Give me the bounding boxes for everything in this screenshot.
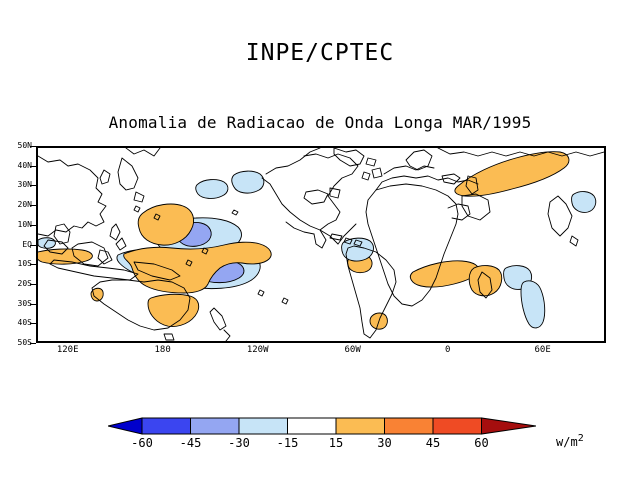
chart-page: INPE/CPTEC Anomalia de Radiacao de Onda …: [0, 0, 640, 494]
x-tick-label: 120W: [228, 345, 288, 355]
page-title: INPE/CPTEC: [0, 40, 640, 66]
y-tick-label: 40S: [0, 318, 32, 327]
chart-title: Anomalia de Radiacao de Onda Longa MAR/1…: [0, 113, 640, 132]
anomaly-madagascar-positive: [469, 266, 502, 296]
colorbar-band-0: [142, 418, 191, 434]
colorbar-tick-label: -30: [214, 436, 264, 450]
x-tick-label: 0: [418, 345, 478, 355]
y-tick-label: 20S: [0, 279, 32, 288]
colorbar-tick-label: 45: [408, 436, 458, 450]
y-tick-label: 20N: [0, 200, 32, 209]
y-tick-label: 30S: [0, 299, 32, 308]
anomaly-australia-positive: [148, 294, 199, 326]
world-map-anomaly-svg: [38, 148, 604, 341]
x-tick-label: 180: [133, 345, 193, 355]
colorbar-band-1: [191, 418, 240, 434]
colorbar-tick-label: -45: [166, 436, 216, 450]
units-label: w/m2: [556, 433, 584, 449]
anomaly-southern-africa-positive: [410, 261, 478, 287]
colorbar-extend-low: [108, 418, 142, 434]
x-tick-label: 120E: [38, 345, 98, 355]
colorbar-band-3: [288, 418, 337, 434]
colorbar-band-2: [239, 418, 288, 434]
y-tick-mark: [30, 343, 36, 344]
colorbar-tick-label: 30: [360, 436, 410, 450]
units-exponent: 2: [578, 433, 584, 444]
y-tick-label: 50N: [0, 141, 32, 150]
y-tick-label: 30N: [0, 180, 32, 189]
colorbar-tick-label: -60: [117, 436, 167, 450]
y-tick-label: 50S: [0, 338, 32, 347]
units-text: w/m: [556, 435, 578, 449]
y-tick-label: 40N: [0, 161, 32, 170]
y-tick-label: 10N: [0, 220, 32, 229]
anomaly-north-pacific-west: [196, 180, 228, 199]
x-tick-label: 60W: [323, 345, 383, 355]
x-tick-label: 60E: [513, 345, 573, 355]
map-plot-area[interactable]: [36, 146, 606, 343]
anomaly-north-pacific-east: [232, 171, 264, 193]
colorbar-svg: [108, 414, 536, 438]
colorbar-band-5: [385, 418, 434, 434]
anomaly-shading-layer: [38, 152, 596, 329]
y-tick-label: 10S: [0, 259, 32, 268]
colorbar-band-4: [336, 418, 385, 434]
colorbar-extend-high: [482, 418, 537, 434]
colorbar-band-6: [433, 418, 482, 434]
colorbar-tick-label: 15: [311, 436, 361, 450]
anomaly-left-edge-negative: [38, 238, 55, 249]
y-tick-label: EQ: [0, 240, 32, 249]
anomaly-indian-ocean-negative-southeast: [521, 281, 545, 328]
anomaly-indian-ocean-negative-north: [572, 192, 596, 213]
anomaly-central-asia-positive: [455, 152, 569, 196]
colorbar[interactable]: [108, 414, 536, 438]
colorbar-tick-label: -15: [263, 436, 313, 450]
colorbar-tick-label: 60: [457, 436, 507, 450]
